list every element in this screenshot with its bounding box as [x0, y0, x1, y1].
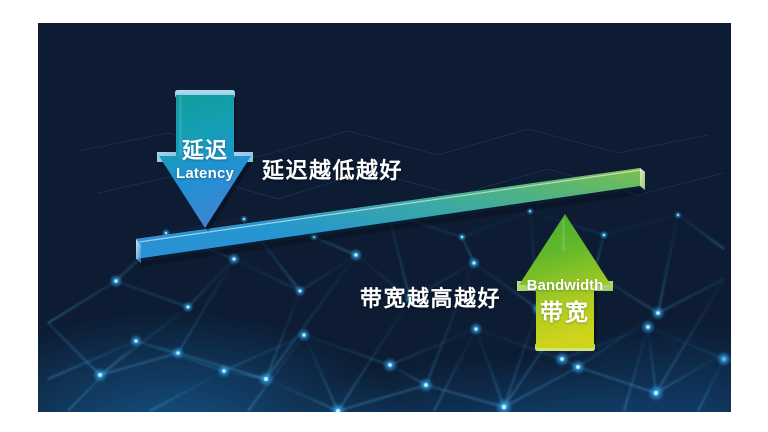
- slide-root: 延迟 Latency: [0, 0, 768, 432]
- latency-arrow[interactable]: 延迟 Latency: [155, 86, 255, 238]
- caption-latency: 延迟越低越好: [262, 153, 403, 185]
- latency-arrow-label-cn: 延迟: [155, 139, 255, 164]
- network-background: [38, 23, 731, 412]
- bandwidth-arrow[interactable]: Bandwidth 带宽: [515, 211, 615, 356]
- slide-canvas: 延迟 Latency: [38, 23, 731, 412]
- latency-arrow-label-en: Latency: [155, 166, 255, 183]
- bandwidth-arrow-label-cn: 带宽: [515, 300, 615, 326]
- bandwidth-arrow-label-en: Bandwidth: [515, 278, 615, 295]
- network-constellation-icon: [38, 23, 731, 412]
- caption-bandwidth: 带宽越高越好: [360, 281, 501, 313]
